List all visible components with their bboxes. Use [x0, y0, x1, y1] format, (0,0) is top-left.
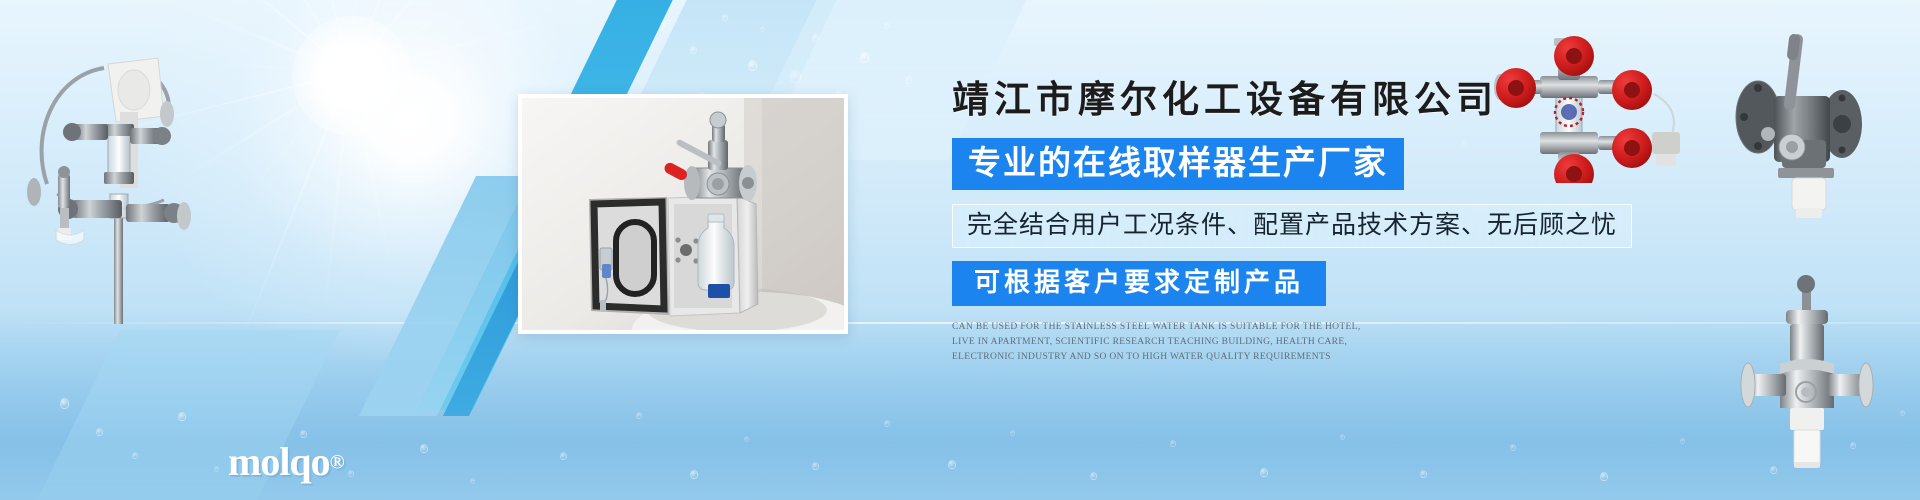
product-banner: 靖江市摩尔化工设备有限公司 专业的在线取样器生产厂家 完全结合用户工况条件、配置…: [0, 0, 1920, 500]
subline-box: 完全结合用户工况条件、配置产品技术方案、无后顾之忧: [952, 204, 1632, 248]
center-product-photo: [518, 94, 848, 334]
sun-ray: [350, 72, 470, 75]
logo-wordmark: molqo: [228, 439, 330, 484]
company-title: 靖江市摩尔化工设备有限公司: [952, 78, 1752, 124]
cta-text: 可根据客户要求定制产品: [974, 267, 1304, 297]
headline-text: 专业的在线取样器生产厂家: [968, 144, 1388, 181]
logo-registered-mark: ®: [330, 452, 345, 474]
right-bottom-product-image: [1738, 266, 1920, 471]
banner-copy: 靖江市摩尔化工设备有限公司 专业的在线取样器生产厂家 完全结合用户工况条件、配置…: [952, 78, 1752, 365]
subline-text: 完全结合用户工况条件、配置产品技术方案、无后顾之忧: [967, 211, 1617, 239]
english-description: CAN BE USED FOR THE STAINLESS STEEL WATE…: [952, 320, 1367, 365]
cta-badge[interactable]: 可根据客户要求定制产品: [952, 261, 1326, 306]
headline-badge: 专业的在线取样器生产厂家: [952, 138, 1404, 190]
left-product-image: [12, 24, 222, 324]
brand-logo: molqo®: [228, 440, 345, 485]
